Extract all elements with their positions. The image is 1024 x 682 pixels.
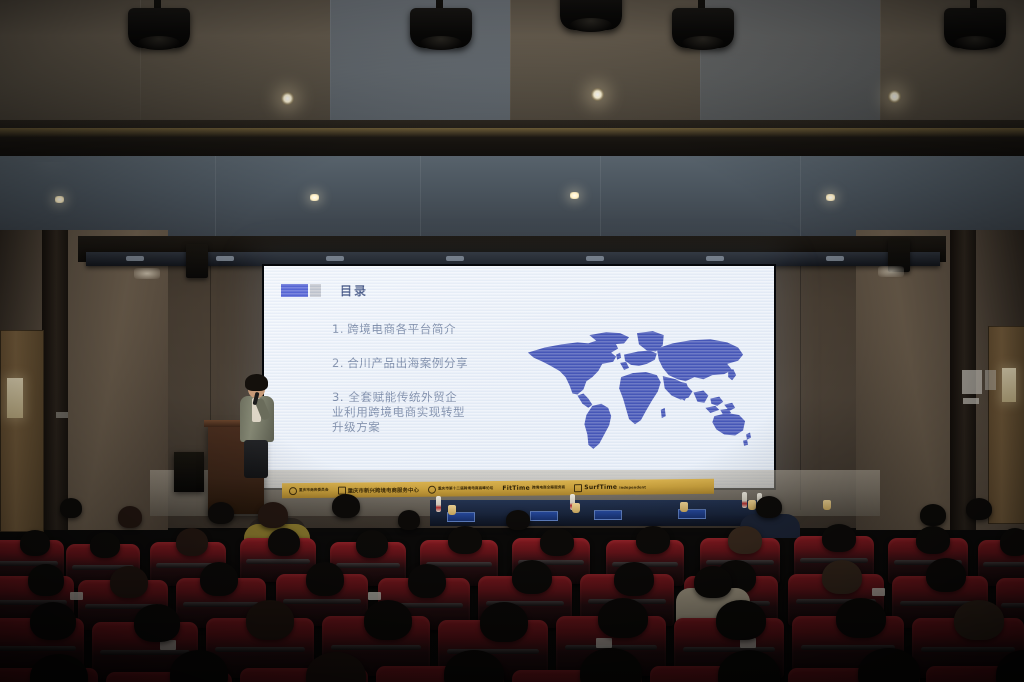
toc-item-3-line-1: 3. 全套赋能传统外贸企 <box>332 390 542 405</box>
seat-number-tag <box>596 638 612 648</box>
wall-notice <box>963 398 979 404</box>
seat-number-tag <box>872 588 885 596</box>
audience-head <box>20 530 50 556</box>
ceiling-striplight <box>310 194 319 201</box>
audience-head <box>598 598 648 638</box>
toc-item-2-label: 合川产品出海案例分享 <box>347 356 468 370</box>
ceiling-striplight <box>55 196 64 203</box>
auditorium-scene: 目录 1.跨境电商各平台简介 2.合川产品出海案例分享 3. 全套赋能传统外贸企… <box>0 0 1024 682</box>
audience-head <box>30 602 76 640</box>
title-accent-block-gray <box>310 284 321 297</box>
ceiling-striplight <box>570 192 579 199</box>
stage-spotlight-icon <box>128 0 190 56</box>
audience-head <box>258 502 288 528</box>
audience-head <box>246 600 294 640</box>
banner-logo-5-label: 跨境电商全案服务商 <box>532 485 565 490</box>
audience-head <box>60 498 82 518</box>
ceiling-striplight <box>826 194 835 201</box>
wall-loudspeaker-left <box>186 244 208 278</box>
banner-logo-6-label: SurfTime <box>584 484 617 491</box>
audience-head <box>926 558 966 592</box>
audience-head <box>966 498 992 520</box>
stage-loudspeaker <box>174 452 204 492</box>
audience-head <box>200 562 238 596</box>
wall-wash-light <box>134 268 160 279</box>
world-map-svg <box>514 328 752 456</box>
banner-logo-4-label: FitTime <box>502 485 530 492</box>
wall-notice <box>985 370 996 390</box>
audience-seating <box>0 492 1024 682</box>
ceiling-downlight <box>591 88 604 101</box>
audience-head <box>614 562 654 596</box>
stage-spotlight-icon <box>944 0 1006 56</box>
audience-head <box>176 528 208 556</box>
presenter <box>236 376 278 480</box>
wall-pillar-left <box>42 230 68 530</box>
audience-head <box>540 528 574 556</box>
door-window-right <box>1002 368 1016 402</box>
audience-head <box>408 564 446 598</box>
wall-switch-plate[interactable] <box>56 412 68 418</box>
audience-head <box>134 604 180 642</box>
audience-head <box>118 506 142 528</box>
slide-title: 目录 <box>340 282 368 299</box>
ceiling-downlight <box>888 90 901 103</box>
audience-head <box>90 532 120 558</box>
seat-number-tag <box>368 592 381 600</box>
audience-head <box>1000 528 1024 556</box>
audience-head <box>836 598 886 638</box>
banner-logo-5: SurfTime independent <box>574 483 646 492</box>
toc-item-2-number: 2. <box>332 356 344 370</box>
audience-head <box>822 560 862 594</box>
audience-head <box>268 528 300 556</box>
audience-head <box>512 560 552 594</box>
audience-head <box>306 562 344 596</box>
banner-logo-7-label: independent <box>619 485 646 489</box>
audience-head <box>716 600 766 640</box>
sponsor-square-mark-icon <box>574 484 582 492</box>
door-window-left <box>7 378 23 418</box>
audience-head <box>332 494 360 518</box>
audience-head <box>448 526 482 554</box>
presentation-slide: 目录 1.跨境电商各平台简介 2.合川产品出海案例分享 3. 全套赋能传统外贸企… <box>264 266 774 488</box>
audience-head <box>954 600 1004 640</box>
wall-wash-light <box>878 266 904 277</box>
toc-item-1-number: 1. <box>332 322 344 336</box>
audience-head <box>822 524 856 552</box>
seat-number-tag <box>70 592 83 600</box>
toc-item-3: 3. 全套赋能传统外贸企 业利用跨境电商实现转型 升级方案 <box>332 390 542 435</box>
audience-head <box>728 526 762 554</box>
world-map-graphic <box>514 328 752 456</box>
audience-head <box>756 496 782 518</box>
projection-screen: 目录 1.跨境电商各平台简介 2.合川产品出海案例分享 3. 全套赋能传统外贸企… <box>262 264 776 490</box>
banner-logo-4: FitTime 跨境电商全案服务商 <box>502 484 565 492</box>
toc-item-3-line-2: 业利用跨境电商实现转型 <box>332 405 542 420</box>
audience-head <box>694 566 732 598</box>
cove-lighting <box>0 128 1024 137</box>
audience-head <box>398 510 420 530</box>
stage-spotlight-icon <box>560 0 622 38</box>
toc-item-3-line-3: 升级方案 <box>332 420 542 435</box>
ceiling-downlight <box>281 92 294 105</box>
audience-head <box>920 504 946 526</box>
stage-spotlight-icon <box>410 0 472 56</box>
title-accent-block-blue <box>281 284 308 297</box>
audience-head <box>506 510 530 530</box>
presenter-hair <box>245 374 268 391</box>
audience-head <box>208 502 234 524</box>
toc-item-2: 2.合川产品出海案例分享 <box>332 356 542 371</box>
audience-head <box>916 526 950 554</box>
audience-head <box>356 530 388 558</box>
stage-spotlight-icon <box>672 0 734 56</box>
presenter-legs <box>244 440 268 478</box>
audience-head <box>28 564 64 596</box>
toc-item-1-label: 跨境电商各平台简介 <box>347 322 456 336</box>
banner-logo-3-label: 重庆市第十二届跨境电商高峰论坛 <box>438 486 493 492</box>
audience-head <box>480 602 528 642</box>
wall-notice <box>962 370 982 394</box>
audience-head <box>364 600 412 640</box>
slide-toc-list: 1.跨境电商各平台简介 2.合川产品出海案例分享 3. 全套赋能传统外贸企 业利… <box>332 322 542 454</box>
audience-head <box>636 526 670 554</box>
audience-head <box>110 566 148 598</box>
toc-item-1: 1.跨境电商各平台简介 <box>332 322 542 337</box>
